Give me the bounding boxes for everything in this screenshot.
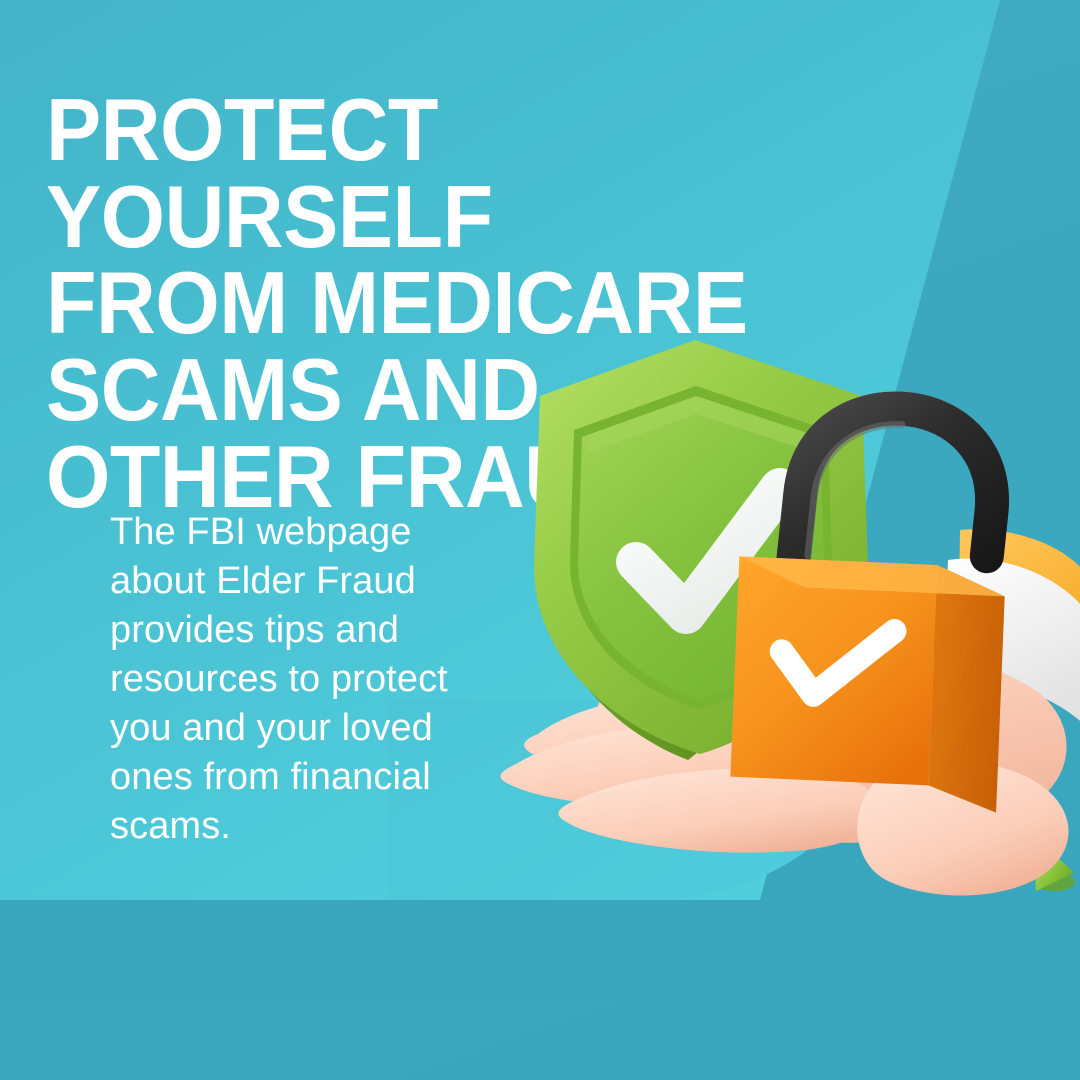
- hero-illustration: [490, 330, 1080, 930]
- body-paragraph: The FBI webpage about Elder Fraud provid…: [110, 508, 510, 851]
- poster-canvas: PROTECT YOURSELF FROM MEDICARE SCAMS AND…: [0, 0, 1080, 1080]
